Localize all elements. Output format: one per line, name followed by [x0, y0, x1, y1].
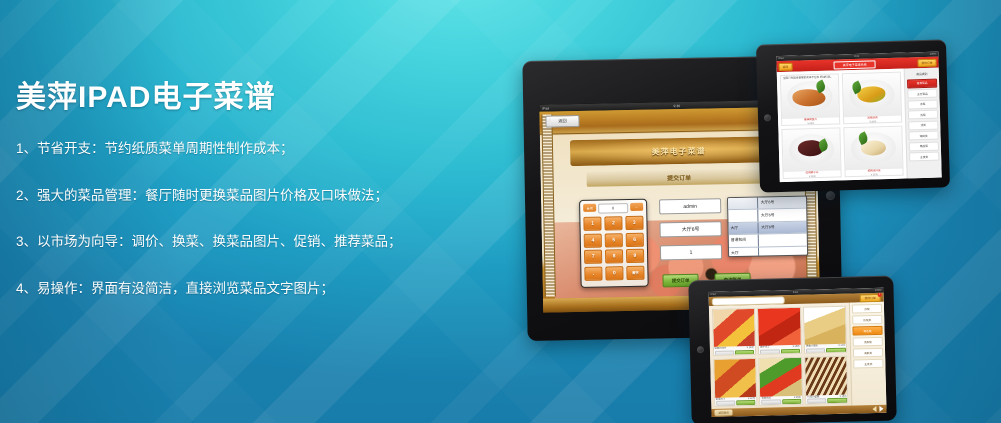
table-cell-name: 大厅6号 — [758, 197, 807, 209]
table-cell-area — [728, 198, 758, 210]
dish-card[interactable]: 彩椒炒肉 ￥28元 — [842, 72, 902, 124]
table-cell-area: 大厅 — [729, 247, 759, 257]
status-battery: 100% — [930, 53, 937, 56]
sidebar-item-cold[interactable]: 凉菜 — [908, 99, 938, 109]
add-to-order-button[interactable] — [735, 350, 754, 356]
detail-button[interactable] — [760, 349, 779, 355]
food-shape — [714, 359, 756, 398]
feature-list: 1、节省开支：节约纸质菜单周期性制作成本； 2、强大的菜品管理：餐厅随时更换菜品… — [16, 142, 446, 295]
sidebar-item-seafood[interactable]: 海鲜类 — [908, 131, 938, 141]
tablet-bezel: iPad 9:41 100% 返回 美萍电子菜谱系统 我的订单 — [756, 39, 950, 192]
keypad-key-0[interactable]: 0 — [605, 266, 624, 280]
menu-card[interactable]: 宫保鸡丁 ￥32元 — [713, 358, 757, 407]
keypad-grid: 1 2 3 4 5 6 7 8 9 . 0 清空 — [583, 216, 644, 281]
menu-card-actions — [760, 349, 799, 355]
app-title: 美萍电子菜谱系统 — [834, 60, 876, 69]
dish-image — [758, 307, 800, 346]
menu-card-footer: 辣子鸡丁 ￥36元 — [759, 345, 801, 354]
home-button[interactable] — [764, 114, 771, 121]
page-title: 美萍IPAD电子菜谱 — [16, 72, 446, 116]
feature-item-4: 4、易操作：界面有没简洁，直接浏览菜品文字图片； — [16, 282, 446, 296]
keypad-key-2[interactable]: 2 — [604, 216, 623, 230]
status-battery: 100% — [875, 289, 882, 292]
sidebar-item-cold[interactable]: 凉菜 — [852, 304, 882, 314]
menu-card-actions — [807, 398, 846, 404]
category-sidebar: 凉菜 热菜类 特色菜 汤类菜 海鲜类 主食类 — [849, 302, 887, 406]
menu-card[interactable]: 青椒肉丝 ￥26元 — [758, 357, 802, 406]
pager — [872, 406, 883, 412]
keypad-key-8[interactable]: 8 — [605, 249, 624, 263]
add-to-order-button[interactable] — [782, 399, 801, 405]
detail-button[interactable] — [807, 398, 826, 404]
menu-card[interactable]: 黄金小馒头 ￥12元 — [803, 305, 847, 354]
tablet-screen: iPad 9:44 100% 我的订单 3 — [709, 288, 887, 417]
menu-card[interactable]: 彩椒炒肉片 ￥28元 — [711, 307, 755, 356]
tablet-screen: iPad 9:41 100% 返回 美萍电子菜谱系统 我的订单 — [776, 52, 941, 182]
menu-card[interactable]: 巧克力蛋糕 ￥18元 — [804, 355, 848, 404]
status-time: 9:44 — [793, 291, 798, 294]
food-shape — [760, 358, 802, 397]
food-shape — [758, 307, 800, 346]
keypad-key-4[interactable]: 4 — [584, 233, 603, 247]
detail-button[interactable] — [716, 400, 735, 406]
menu-card-footer: 宫保鸡丁 ￥32元 — [715, 396, 757, 405]
dish-price: ￥68元 — [807, 121, 815, 125]
table-cell-name — [759, 246, 808, 257]
detail-button[interactable] — [806, 348, 825, 354]
sidebar-item-soup[interactable]: 汤类菜 — [853, 337, 883, 347]
menu-card-footer: 巧克力蛋糕 ￥18元 — [806, 394, 848, 403]
sidebar-item-signature[interactable]: 主打菜品 — [907, 89, 937, 99]
menu-card-actions — [762, 399, 801, 405]
status-carrier: iPad — [778, 57, 783, 60]
table-cell-area — [728, 210, 758, 222]
sidebar-item-recommended[interactable]: 推荐菜品 — [907, 78, 937, 88]
dish-image — [714, 359, 756, 398]
table-cell-area: 普通包间 — [729, 235, 759, 247]
sidebar-item-specialty[interactable]: 特色菜 — [852, 326, 882, 336]
my-order-button[interactable]: 我的订单 3 — [859, 293, 880, 302]
dish-price: ￥28元 — [869, 119, 877, 123]
sidebar-item-seafood[interactable]: 海鲜类 — [853, 348, 883, 358]
sidebar-item-staple[interactable]: 主食类 — [853, 359, 883, 369]
menu-card[interactable]: 辣子鸡丁 ￥36元 — [757, 306, 801, 355]
food-shape — [804, 306, 846, 345]
banner-copy: 美萍IPAD电子菜谱 1、节省开支：节约纸质菜单周期性制作成本； 2、强大的菜品… — [16, 72, 446, 328]
dish-image — [760, 358, 802, 397]
menu-card-actions — [714, 350, 753, 356]
subtitle-text: 提交订单 — [667, 173, 691, 182]
add-to-order-button[interactable] — [826, 348, 845, 354]
dish-image — [844, 126, 902, 170]
keypad-key-clear[interactable]: 清空 — [626, 265, 645, 279]
next-page-icon[interactable] — [879, 406, 883, 412]
order-fields: admin 大厅6号 1 — [659, 198, 722, 268]
dish-card[interactable]: 招牌凉拌菜 ￥26元 — [843, 125, 903, 177]
food-shape — [712, 308, 754, 347]
tablet-bezel: iPad 9:44 100% 我的订单 3 — [688, 276, 896, 423]
my-order-button[interactable]: 我的订单 — [917, 58, 936, 67]
keypad-key-7[interactable]: 7 — [584, 250, 603, 264]
tablet-menu-grid: iPad 9:44 100% 我的订单 3 — [688, 276, 896, 423]
numeric-keypad[interactable]: 台号 6 ← 1 2 3 4 5 6 7 — [579, 199, 649, 288]
add-to-order-button[interactable] — [780, 349, 799, 355]
keypad-backspace-icon[interactable]: ← — [630, 203, 643, 211]
sidebar-item-staple[interactable]: 主食类 — [909, 152, 939, 162]
home-button[interactable] — [697, 346, 704, 353]
app-body: 全国只有超级餐管家菜单不包含 新油料品。 香辣烤鱼片 ￥68元 — [777, 68, 942, 182]
dish-price: ￥38元 — [808, 174, 816, 178]
dish-image — [712, 308, 754, 347]
menu-card-footer: 黄金小馒头 ￥12元 — [805, 344, 847, 353]
keypad-display: 台号 6 ← — [583, 203, 643, 214]
add-to-order-button[interactable] — [736, 400, 755, 406]
keypad-key-6[interactable]: 6 — [625, 232, 644, 246]
keypad-key-dot[interactable]: . — [584, 266, 603, 280]
dish-image — [782, 128, 840, 172]
sidebar-title: 菜品类别 — [907, 70, 937, 78]
table-cell-name: 大厅6号 — [758, 221, 807, 233]
user-field[interactable]: admin — [659, 198, 721, 214]
add-to-order-button[interactable] — [828, 398, 847, 404]
dish-grid: 全国只有超级餐管家菜单不包含 新油料品。 香辣烤鱼片 ￥68元 — [777, 69, 907, 183]
keypad-key-5[interactable]: 5 — [604, 233, 623, 247]
count-field[interactable]: 1 — [660, 244, 722, 260]
dish-card[interactable]: 红烧狮子头 ￥38元 — [781, 127, 841, 179]
category-sidebar: 菜品类别 推荐菜品 主打菜品 凉菜 热菜 汤类 海鲜类 精品菜 主食类 — [904, 68, 942, 179]
app-body: 彩椒炒肉片 ￥28元 — [709, 302, 886, 409]
menu-card-actions — [806, 348, 845, 354]
tablet-dish-gallery: iPad 9:41 100% 返回 美萍电子菜谱系统 我的订单 — [756, 39, 950, 192]
dish-card[interactable]: 全国只有超级餐管家菜单不包含 新油料品。 香辣烤鱼片 ￥68元 — [780, 73, 840, 125]
menu-grid: 彩椒炒肉片 ￥28元 — [709, 303, 851, 409]
back-button[interactable]: 返回 — [545, 115, 579, 128]
my-order-label: 我的订单 — [864, 295, 875, 299]
table-field[interactable]: 大厅6号 — [659, 221, 721, 237]
food-shape — [805, 356, 847, 395]
dish-gallery-app: iPad 9:41 100% 返回 美萍电子菜谱系统 我的订单 — [776, 52, 941, 182]
table-cell-area: 大厅 — [728, 222, 758, 234]
sidebar-item-hot[interactable]: 热菜类 — [852, 315, 882, 325]
table-row[interactable]: 大厅 — [729, 246, 807, 257]
sidebar-item-soup[interactable]: 汤类 — [908, 120, 938, 130]
app-title: 美萍电子菜谱 — [651, 145, 705, 157]
prev-page-icon[interactable] — [872, 406, 876, 412]
detail-button[interactable] — [762, 399, 781, 405]
feature-item-2: 2、强大的菜品管理：餐厅随时更换菜品图片价格及口味做法； — [16, 189, 446, 203]
subtitle-bar: 提交订单 — [586, 168, 771, 187]
feature-item-1: 1、节省开支：节约纸质菜单周期性制作成本； — [16, 142, 446, 156]
dish-image — [843, 73, 901, 117]
sidebar-item-hot[interactable]: 热菜 — [908, 110, 938, 120]
dish-price: ￥26元 — [870, 172, 878, 176]
sidebar-item-premium[interactable]: 精品菜 — [909, 141, 939, 151]
keypad-label: 台号 — [583, 204, 596, 212]
table-cell-name: 大厅6号 — [758, 209, 807, 221]
menu-card-footer: 彩椒炒肉片 ￥28元 — [713, 346, 755, 355]
feature-item-3: 3、以市场为向导：调价、换菜、换菜品图片、促销、推荐菜品； — [16, 235, 446, 249]
status-time: 9:41 — [854, 55, 859, 58]
menu-grid-app: iPad 9:44 100% 我的订单 3 — [709, 288, 887, 417]
app-title-bar: 美萍电子菜谱 — [570, 136, 787, 166]
detail-button[interactable] — [714, 350, 733, 356]
dish-image: 全国只有超级餐管家菜单不包含 新油料品。 — [781, 74, 839, 118]
keypad-key-9[interactable]: 9 — [626, 249, 645, 263]
status-carrier: iPad — [711, 293, 716, 296]
decorative-border-left — [541, 114, 555, 296]
order-count-badge: 3 — [878, 292, 882, 296]
banner-stage: 美萍IPAD电子菜谱 1、节省开支：节约纸质菜单周期性制作成本； 2、强大的菜品… — [0, 0, 1001, 423]
dish-image — [804, 306, 846, 345]
back-button[interactable]: 返回 — [778, 62, 792, 70]
menu-card-actions — [716, 400, 755, 406]
keypad-key-3[interactable]: 3 — [625, 216, 644, 230]
table-list[interactable]: 大厅6号 大厅6号 大厅 大厅6号 普通包间 — [727, 196, 808, 258]
home-button[interactable] — [826, 191, 835, 200]
dish-image — [805, 356, 847, 395]
keypad-key-1[interactable]: 1 — [583, 217, 602, 231]
table-cell-name — [758, 234, 807, 246]
home-button-label[interactable]: 返回首页 — [714, 409, 733, 415]
keypad-input[interactable]: 6 — [598, 203, 628, 214]
menu-card-footer: 青椒肉丝 ￥26元 — [760, 395, 802, 404]
